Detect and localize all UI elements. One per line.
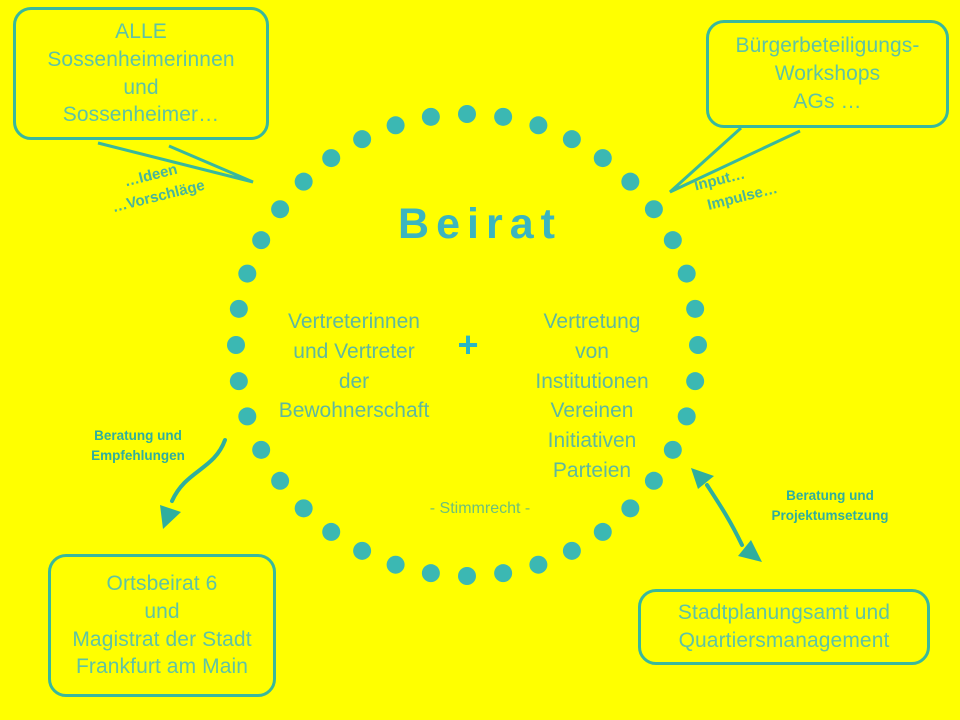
ring-dot [563, 130, 581, 148]
ring-dot [494, 564, 512, 582]
ring-dot [238, 407, 256, 425]
ring-dot [529, 556, 547, 574]
column-line: und Vertreter [258, 337, 450, 367]
column-line: Vertretung [498, 307, 686, 337]
arrowhead-bottom-right-up [691, 468, 714, 489]
ring-dot [689, 336, 707, 354]
bubble-line: Workshops [775, 60, 881, 88]
ring-dot [494, 108, 512, 126]
ring-dot [322, 523, 340, 541]
bubble-line: Frankfurt am Main [76, 653, 248, 681]
ring-dot [353, 130, 371, 148]
ring-dot [295, 173, 313, 191]
ring-dot [621, 173, 639, 191]
ring-dot [238, 265, 256, 283]
column-line: Initiativen [498, 426, 686, 456]
ring-dot [353, 542, 371, 560]
column-line: Parteien [498, 456, 686, 486]
ring-dot [227, 336, 245, 354]
ring-dot [594, 149, 612, 167]
bubble-line: Sossenheimerinnen [47, 46, 234, 74]
bubble-alle-sossenheimer[interactable]: ALLE Sossenheimerinnen und Sossenheimer… [13, 7, 269, 140]
center-column-institutionen: Vertretung von Institutionen Vereinen In… [498, 307, 686, 486]
bubble-line: und [144, 598, 179, 626]
ring-dot [458, 567, 476, 585]
column-line: Institutionen [498, 367, 686, 397]
ring-dot [686, 300, 704, 318]
bubble-line: Ortsbeirat 6 [107, 570, 218, 598]
ring-dot [230, 300, 248, 318]
ring-dot [563, 542, 581, 560]
ring-dot [387, 556, 405, 574]
bubble-buergerbeteiligungs-workshops[interactable]: Bürgerbeteiligungs- Workshops AGs … [706, 20, 949, 128]
column-line: Vereinen [498, 396, 686, 426]
center-column-bewohnerschaft: Vertreterinnen und Vertreter der Bewohne… [258, 307, 450, 426]
column-line: Bewohnerschaft [258, 396, 450, 426]
bubble-stadtplanungsamt-quartiersmanagement[interactable]: Stadtplanungsamt und Quartiersmanagement [638, 589, 930, 665]
ring-dot [422, 564, 440, 582]
ring-dot [322, 149, 340, 167]
arrow-label-line: Beratung und [70, 426, 206, 446]
arrow-label-beratung-empfehlungen: Beratung und Empfehlungen [70, 426, 206, 467]
ring-dot [686, 372, 704, 390]
ring-dot [594, 523, 612, 541]
column-line: Vertreterinnen [258, 307, 450, 337]
ring-dot [422, 108, 440, 126]
ring-dot [252, 441, 270, 459]
page-title: Beirat [0, 200, 960, 249]
bubble-line: Stadtplanungsamt und [678, 599, 890, 627]
ring-dot [230, 372, 248, 390]
bubble-line: und [123, 74, 158, 102]
bubble-line: AGs … [793, 88, 861, 116]
ring-dot [529, 116, 547, 134]
ring-dot [678, 265, 696, 283]
bubble-line: ALLE [115, 18, 167, 46]
ring-dot [458, 105, 476, 123]
arrow-label-line: Empfehlungen [70, 446, 206, 466]
footnote-stimmrecht: - Stimmrecht - [0, 500, 960, 518]
bubble-line: Bürgerbeteiligungs- [735, 32, 919, 60]
plus-icon: + [443, 327, 493, 363]
ring-dot [387, 116, 405, 134]
bubble-line: Quartiersmanagement [679, 627, 890, 655]
ring-dot [271, 472, 289, 490]
column-line: der [258, 367, 450, 397]
bubble-ortsbeirat-magistrat[interactable]: Ortsbeirat 6 und Magistrat der Stadt Fra… [48, 554, 276, 697]
bubble-line: Magistrat der Stadt [72, 626, 251, 654]
diagram-canvas: ALLE Sossenheimerinnen und Sossenheimer…… [0, 0, 960, 720]
bubble-line: Sossenheimer… [63, 101, 220, 129]
column-line: von [498, 337, 686, 367]
